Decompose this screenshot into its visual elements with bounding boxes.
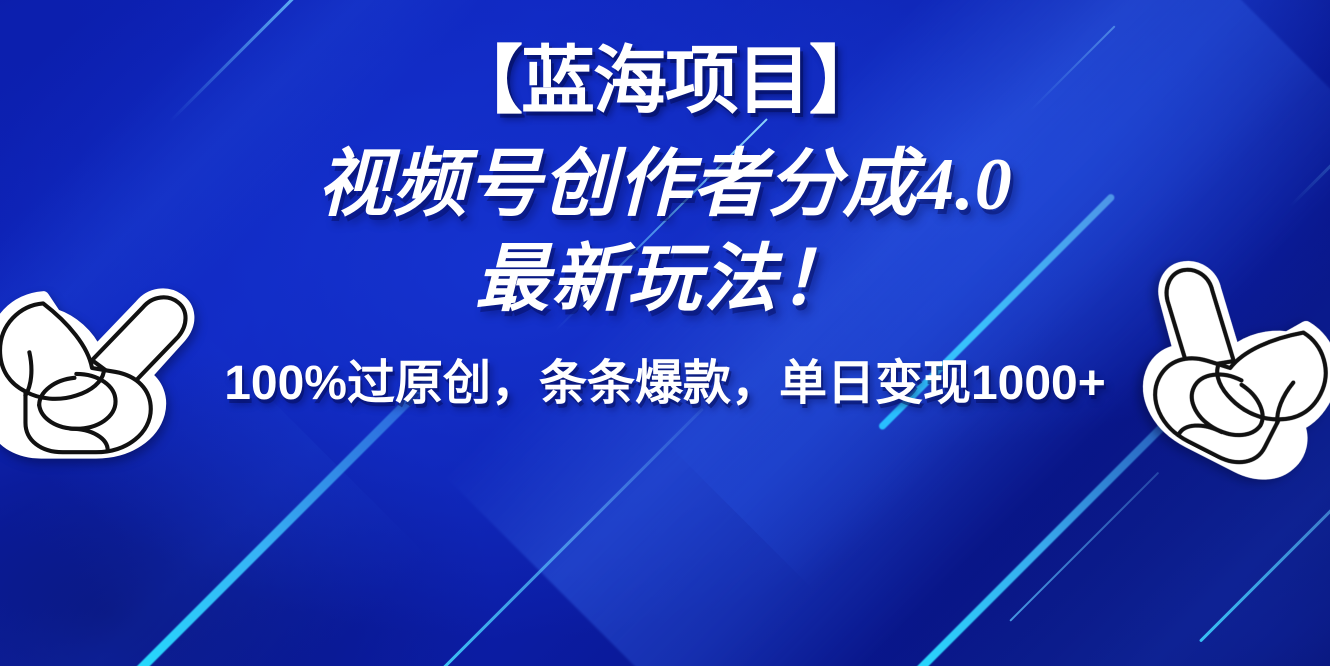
- poster-headline-line2: 最新玩法！: [475, 239, 855, 322]
- poster-text-content: 【蓝海项目】 视频号创作者分成4.0 最新玩法！ 100%过原创，条条爆款，单日…: [0, 0, 1330, 666]
- poster-subtitle: 100%过原创，条条爆款，单日变现1000+: [224, 360, 1106, 408]
- poster-headline-line1: 视频号创作者分成4.0: [317, 144, 1013, 227]
- promo-poster: 【蓝海项目】 视频号创作者分成4.0 最新玩法！ 100%过原创，条条爆款，单日…: [0, 0, 1330, 666]
- poster-title: 【蓝海项目】: [449, 44, 881, 118]
